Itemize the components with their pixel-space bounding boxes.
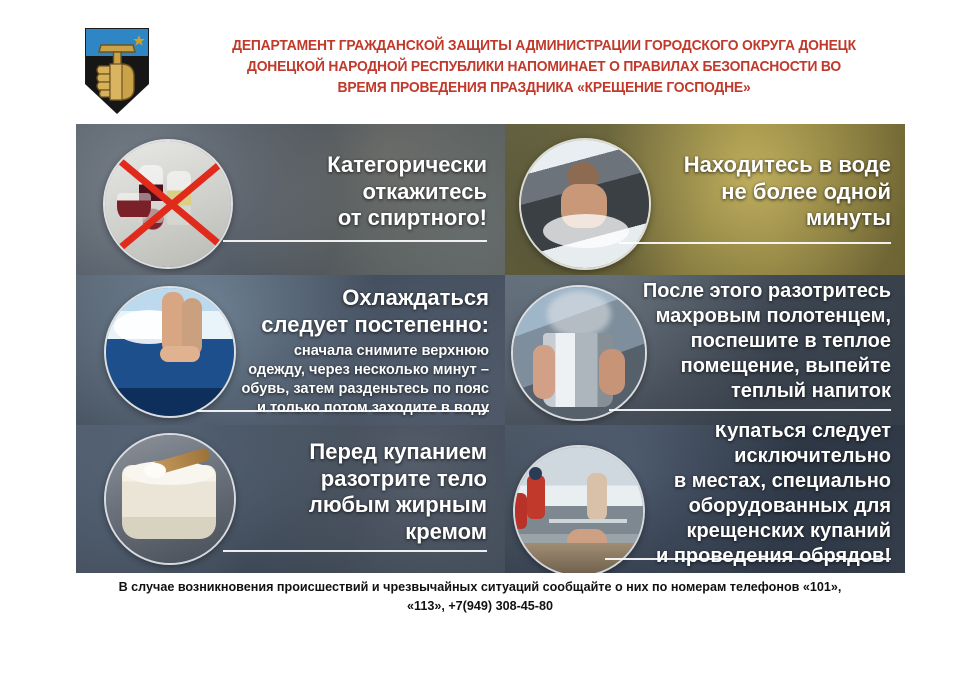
panel-cool-down-body-2: одежду, через несколько минут – — [189, 361, 489, 380]
panel-grease-heading-1: Перед купанием — [209, 439, 487, 466]
emergency-contact-footer: В случае возникновения происшествий и чр… — [0, 578, 960, 616]
panel-places-heading-5: крещенских купаний — [599, 519, 891, 544]
panel-warm-up-after: После этого разотритесь махровым полотен… — [505, 275, 905, 425]
panel-grease-heading-4: кремом — [209, 519, 487, 546]
panel-cool-down-heading-1: Охлаждаться — [189, 285, 489, 312]
panel-no-alcohol-text: Категорически откажитесь от спиртного! — [207, 152, 487, 232]
panel-grease-heading-3: любым жирным — [209, 492, 487, 519]
page-header: ДЕПАРТАМЕНТ ГРАЖДАНСКОЙ ЗАЩИТЫ АДМИНИСТР… — [0, 0, 960, 124]
panel-grease-body-text: Перед купанием разотрите тело любым жирн… — [209, 439, 487, 545]
page-title-line-2: ДОНЕЦКОЙ НАРОДНОЙ РЕСПУБЛИКИ НАПОМИНАЕТ … — [187, 57, 901, 78]
panel-divider-rule — [197, 410, 489, 412]
panel-no-alcohol: Категорически откажитесь от спиртного! — [76, 124, 505, 275]
panel-divider-rule — [605, 558, 891, 560]
panel-one-minute-heading-3: минуты — [623, 205, 891, 232]
donetsk-civil-defence-emblem-icon — [83, 26, 151, 116]
panel-places-heading-1: Купаться следует — [599, 425, 891, 444]
panel-cool-down-body-4: и только потом заходите в воду — [189, 399, 489, 418]
panel-one-minute-heading-2: не более одной — [623, 179, 891, 206]
panel-places-heading-4: оборудованных для — [599, 494, 891, 519]
panel-divider-rule — [223, 240, 487, 242]
panel-warm-up-heading-1: После этого разотритесь — [603, 279, 891, 304]
panel-places-heading-3: в местах, специально — [599, 469, 891, 494]
panel-grease-body-before: Перед купанием разотрите тело любым жирн… — [76, 425, 505, 573]
panel-divider-rule — [609, 409, 891, 411]
page-title-line-3: ВРЕМЯ ПРОВЕДЕНИЯ ПРАЗДНИКА «КРЕЩЕНИЕ ГОС… — [187, 78, 901, 99]
page-title-line-1: ДЕПАРТАМЕНТ ГРАЖДАНСКОЙ ЗАЩИТЫ АДМИНИСТР… — [187, 36, 901, 57]
panel-designated-places-text: Купаться следует исключительно в местах,… — [599, 425, 891, 569]
panel-warm-up-heading-3: поспешите в теплое — [603, 329, 891, 354]
panel-divider-rule — [223, 550, 487, 552]
panel-cool-down-body-1: сначала снимите верхнюю — [189, 342, 489, 361]
panel-no-alcohol-heading-2: откажитесь — [207, 179, 487, 206]
emergency-contact-line-2: «113», +7(949) 308-45-80 — [0, 597, 960, 616]
panel-places-heading-2: исключительно — [599, 444, 891, 469]
panel-warm-up-text: После этого разотритесь махровым полотен… — [603, 279, 891, 404]
panel-grease-heading-2: разотрите тело — [209, 466, 487, 493]
panel-divider-rule — [619, 242, 891, 244]
page-title: ДЕПАРТАМЕНТ ГРАЖДАНСКОЙ ЗАЩИТЫ АДМИНИСТР… — [187, 36, 901, 99]
panel-cool-down-text: Охлаждаться следует постепенно: сначала … — [189, 285, 489, 418]
panel-warm-up-heading-4: помещение, выпейте — [603, 354, 891, 379]
panel-warm-up-heading-2: махровым полотенцем, — [603, 304, 891, 329]
panel-cool-down-body-3: обувь, затем разденьтесь по пояс — [189, 380, 489, 399]
panel-cool-down-heading-2: следует постепенно: — [189, 312, 489, 339]
panel-designated-places-only: Купаться следует исключительно в местах,… — [505, 425, 905, 573]
panel-cool-down-gradually: Охлаждаться следует постепенно: сначала … — [76, 275, 505, 425]
panel-one-minute-heading-1: Находитесь в воде — [623, 152, 891, 179]
panel-one-minute-in-water: Находитесь в воде не более одной минуты — [505, 124, 905, 275]
panel-no-alcohol-heading-3: от спиртного! — [207, 205, 487, 232]
emergency-contact-line-1: В случае возникновения происшествий и чр… — [0, 578, 960, 597]
panel-places-heading-6: и проведения обрядов! — [599, 544, 891, 569]
panel-no-alcohol-heading-1: Категорически — [207, 152, 487, 179]
panel-warm-up-heading-5: теплый напиток — [603, 379, 891, 404]
safety-poster: Категорически откажитесь от спиртного! Н… — [76, 124, 905, 573]
panel-one-minute-text: Находитесь в воде не более одной минуты — [623, 152, 891, 232]
